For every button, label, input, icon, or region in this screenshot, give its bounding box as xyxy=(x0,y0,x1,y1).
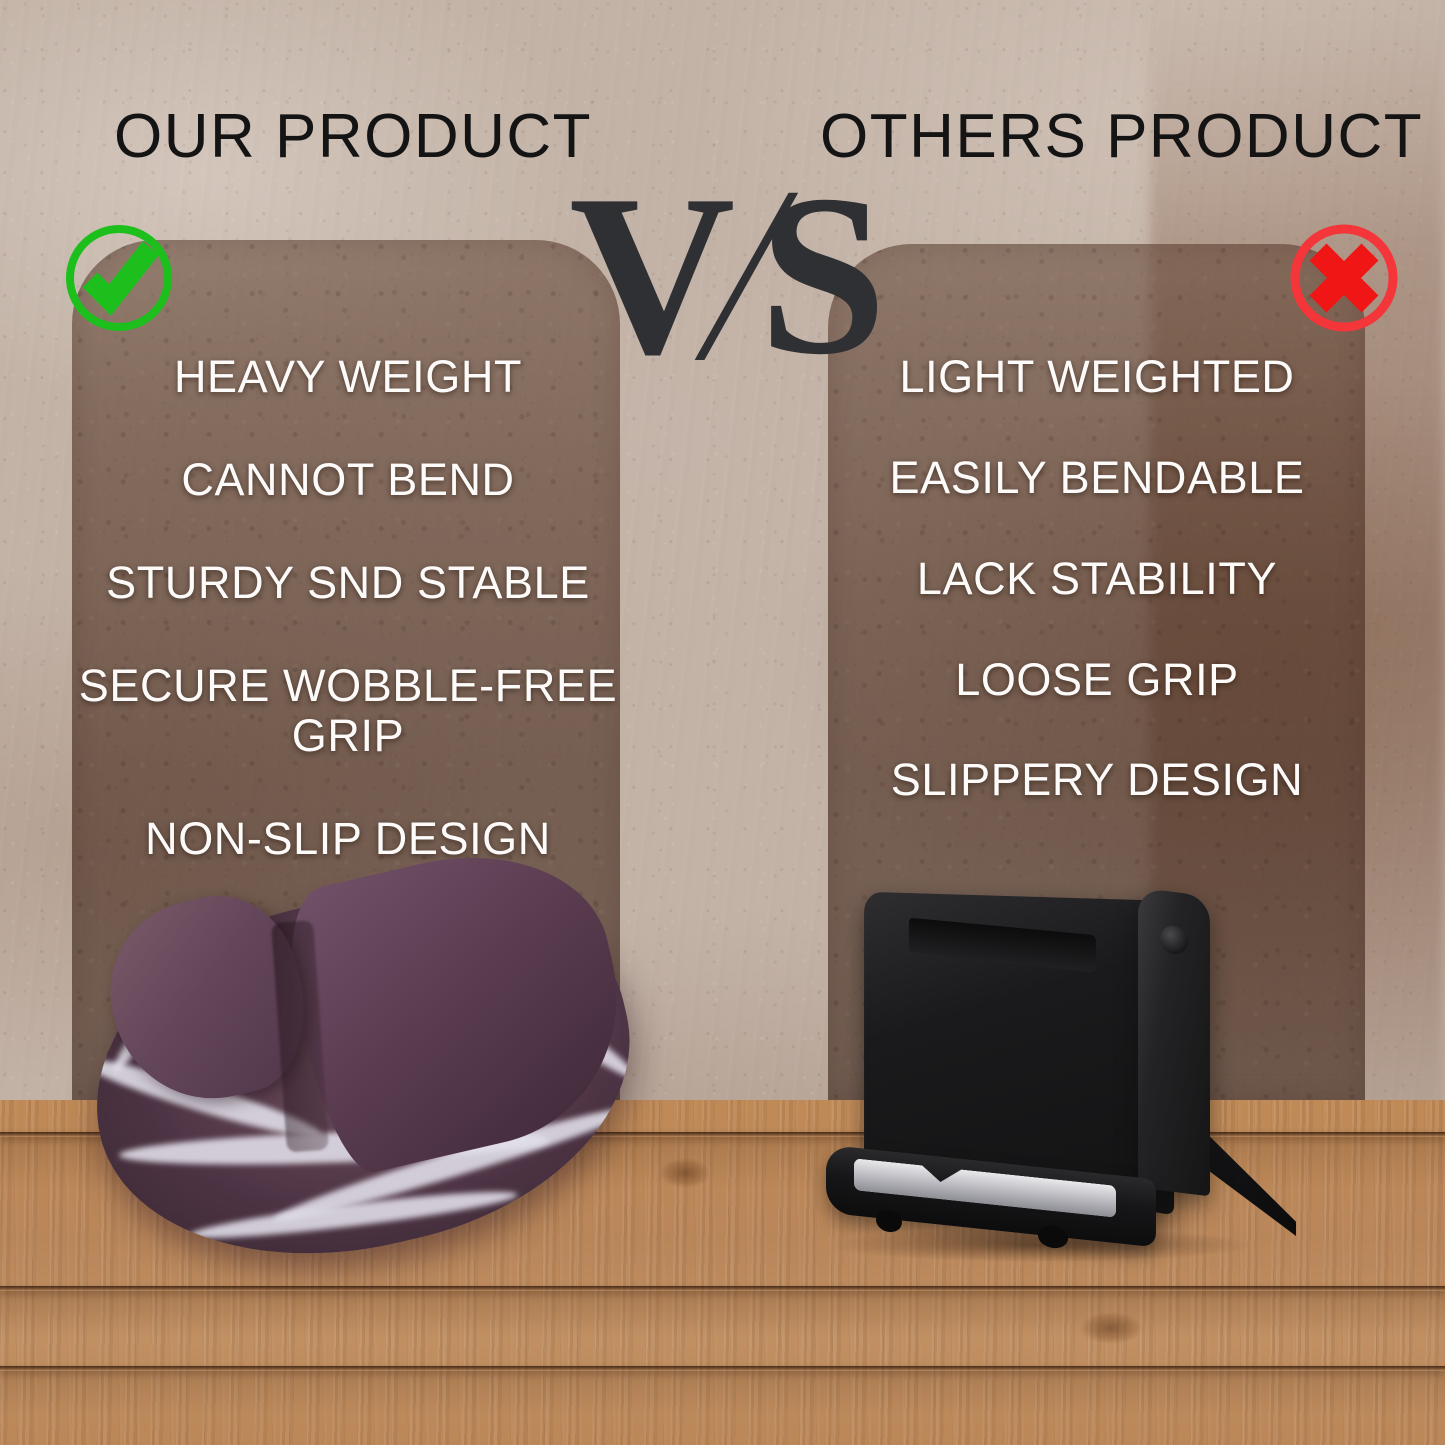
cross-circle-icon xyxy=(1288,222,1400,334)
page-title-our-product: OUR PRODUCT xyxy=(114,101,592,172)
feature-item: EASILY BENDABLE xyxy=(832,453,1362,504)
check-circle-icon xyxy=(63,222,175,334)
page-title-others-product: OTHERS PRODUCT xyxy=(820,101,1423,172)
feature-item: LIGHT WEIGHTED xyxy=(832,352,1362,403)
product-image-black-plastic-stand xyxy=(820,890,1330,1270)
versus-badge: V / S xyxy=(575,160,875,390)
feature-item: CANNOT BEND xyxy=(78,455,618,506)
feature-item: STURDY SND STABLE xyxy=(78,558,618,609)
feature-item: SECURE WOBBLE-FREE GRIP xyxy=(78,661,618,763)
comparison-infographic: OUR PRODUCT OTHERS PRODUCT V / S HEAVY W… xyxy=(0,0,1445,1445)
feature-list-others-product: LIGHT WEIGHTED EASILY BENDABLE LACK STAB… xyxy=(832,352,1362,856)
feature-item: SLIPPERY DESIGN xyxy=(832,755,1362,806)
feature-item: HEAVY WEIGHT xyxy=(78,352,618,403)
feature-item: LOOSE GRIP xyxy=(832,655,1362,706)
plank-shading xyxy=(0,1371,1445,1415)
feature-item: LACK STABILITY xyxy=(832,554,1362,605)
